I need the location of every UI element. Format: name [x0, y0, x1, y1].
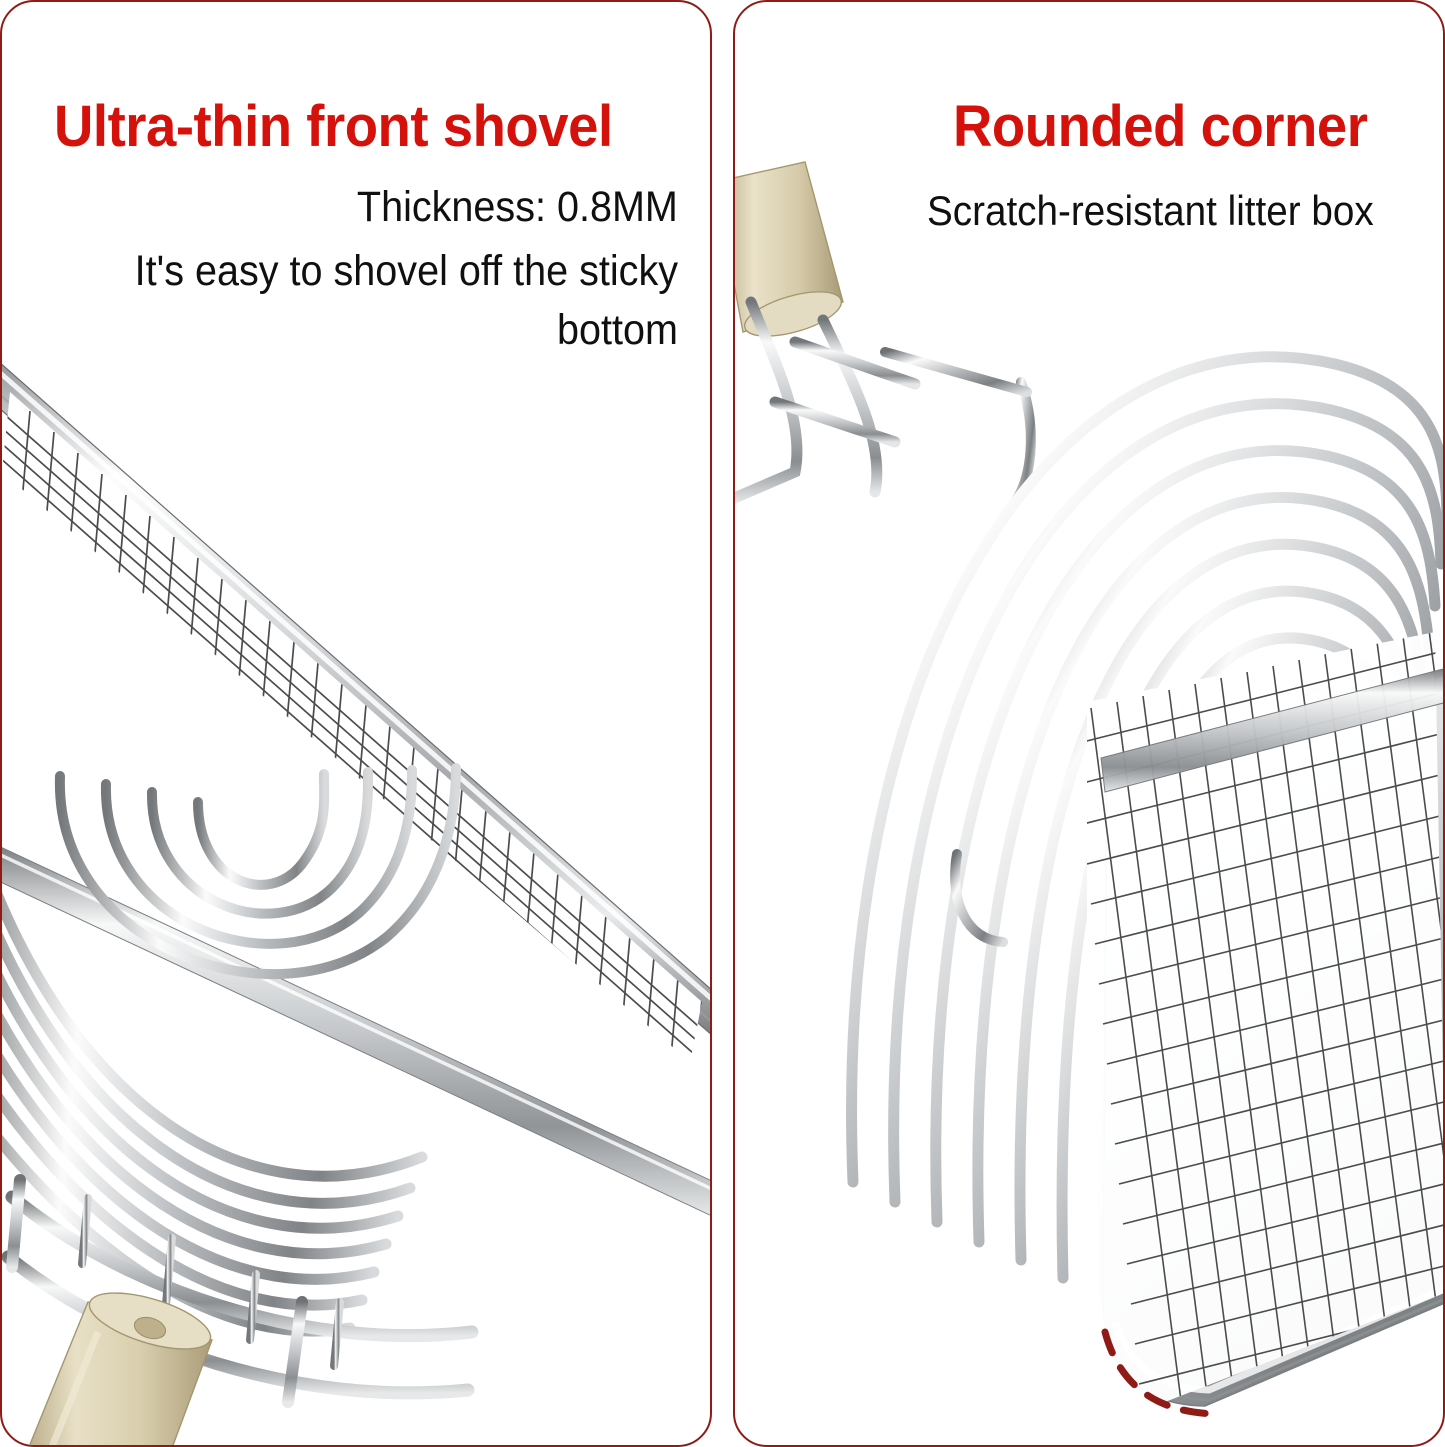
wooden-handle-left [22, 1282, 217, 1447]
panel-ultra-thin-front-shovel: Ultra-thin front shovel Thickness: 0.8MM… [0, 0, 712, 1447]
panel-divider-gap [712, 0, 733, 1447]
handle-bracket-right [735, 302, 915, 502]
product-infographic: Ultra-thin front shovel Thickness: 0.8MM… [0, 0, 1445, 1447]
panel-rounded-corner: Rounded corner Scratch-resistant litter … [733, 0, 1445, 1447]
right-product-illustration [735, 2, 1445, 1447]
mesh-sieve-left [2, 372, 712, 1124]
left-product-illustration [2, 2, 712, 1447]
